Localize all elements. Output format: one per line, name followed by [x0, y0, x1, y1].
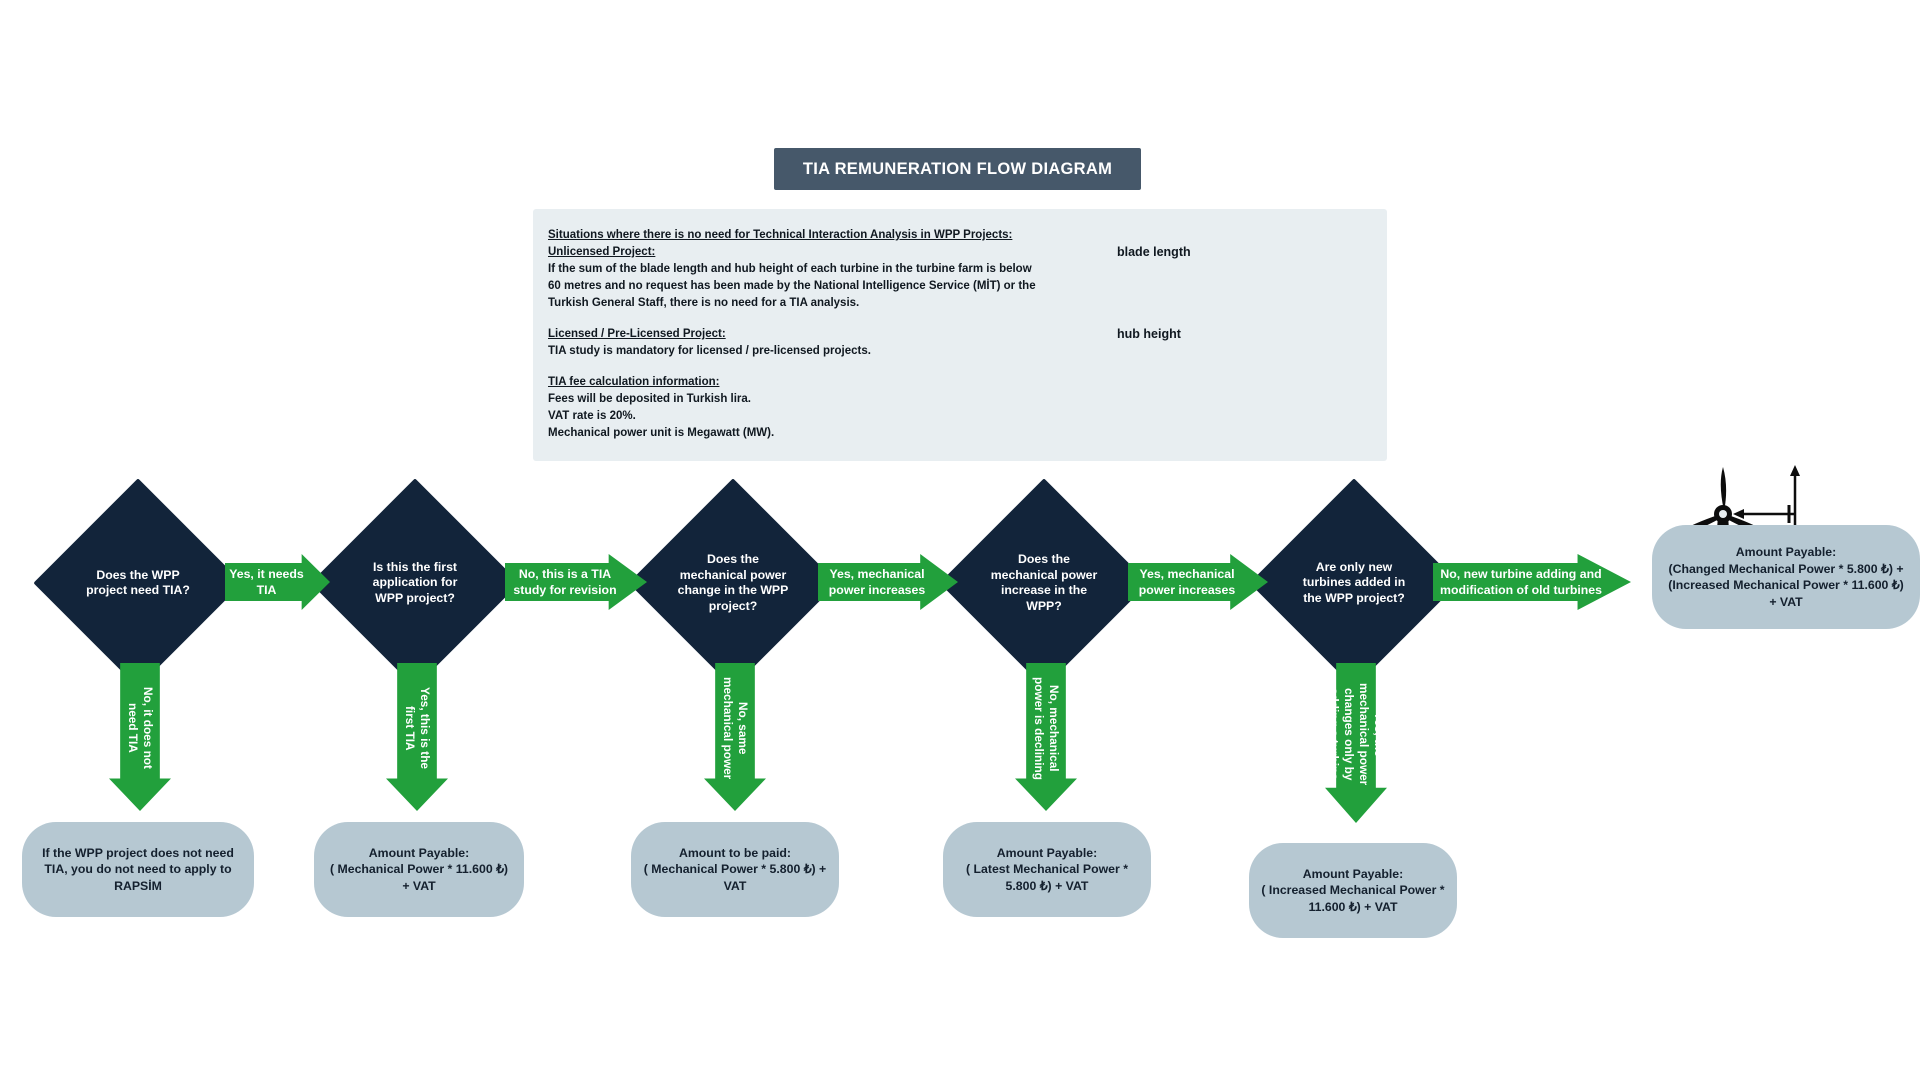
hub-height-label: hub height	[1117, 327, 1181, 341]
result-amount-increased-11600: Amount Payable: ( Increased Mechanical P…	[1249, 843, 1457, 938]
arrow-new-and-modified-turbines[interactable]: No, new turbine adding and modification …	[1433, 554, 1631, 610]
arrow-label: No, mechanical power is declining	[1031, 676, 1061, 780]
info-body-2-line-1: TIA study is mandatory for licensed / pr…	[548, 343, 1088, 360]
arrow-yes-needs-tia[interactable]: Yes, it needs TIA	[225, 554, 330, 610]
info-panel: Situations where there is no need for Te…	[533, 209, 1387, 461]
result-label: Amount Payable: ( Increased Mechanical P…	[1261, 866, 1445, 916]
arrow-is-first-tia[interactable]: Yes, this is the first TIA	[386, 663, 448, 811]
diagram-title-banner: TIA REMUNERATION FLOW DIAGRAM	[774, 148, 1141, 190]
result-amount-5800: Amount to be paid: ( Mechanical Power * …	[631, 822, 839, 917]
result-amount-combined: Amount Payable: (Changed Mechanical Powe…	[1652, 525, 1920, 629]
arrow-power-declining[interactable]: No, mechanical power is declining	[1015, 663, 1077, 811]
info-body-1-line-3: Turkish General Staff, there is no need …	[548, 295, 1088, 312]
info-body-3-line-2: VAT rate is 20%.	[548, 408, 1088, 425]
arrow-same-mechanical-power[interactable]: No, same mechanical power	[704, 663, 766, 811]
result-label: Amount Payable: ( Latest Mechanical Powe…	[955, 845, 1139, 895]
arrow-label: Yes, this is the first TIA	[402, 676, 432, 780]
decision-label: Are only new turbines added in the WPP p…	[1298, 560, 1410, 607]
info-body-3-line-1: Fees will be deposited in Turkish lira.	[548, 391, 1088, 408]
info-body-3-line-3: Mechanical power unit is Megawatt (MW).	[548, 425, 1088, 442]
decision-label: Is this the first application for WPP pr…	[359, 560, 471, 607]
info-panel-text: Situations where there is no need for Te…	[548, 227, 1088, 442]
decision-wpp-needs-tia[interactable]: Does the WPP project need TIA?	[64, 509, 212, 657]
info-body-1-line-2: 60 metres and no request has been made b…	[548, 278, 1088, 295]
decision-mech-power-change[interactable]: Does the mechanical power change in the …	[659, 509, 807, 657]
result-amount-latest-5800: Amount Payable: ( Latest Mechanical Powe…	[943, 822, 1151, 917]
info-heading-1: Situations where there is no need for Te…	[548, 227, 1088, 244]
info-body-1-line-1: If the sum of the blade length and hub h…	[548, 261, 1088, 278]
arrow-label: Yes, it needs TIA	[225, 566, 330, 598]
decision-mech-power-increase[interactable]: Does the mechanical power increase in th…	[970, 509, 1118, 657]
result-label: If the WPP project does not need TIA, yo…	[34, 845, 242, 895]
arrow-label: Yes, mechanical power increases	[818, 566, 958, 598]
arrow-label: No, this is a TIA study for revision	[505, 566, 647, 598]
arrow-revision-study[interactable]: No, this is a TIA study for revision	[505, 554, 647, 610]
result-label: Amount Payable: ( Mechanical Power * 11.…	[326, 845, 512, 895]
blade-length-label: blade length	[1117, 245, 1191, 259]
arrow-power-increases-1[interactable]: Yes, mechanical power increases	[818, 554, 958, 610]
decision-first-application[interactable]: Is this the first application for WPP pr…	[341, 509, 489, 657]
info-subheading-unlicensed: Unlicensed Project:	[548, 244, 1088, 261]
result-no-rapsim-application: If the WPP project does not need TIA, yo…	[22, 822, 254, 917]
info-spacer-2	[548, 360, 1088, 374]
arrow-label: No, it does not need TIA	[125, 676, 155, 780]
result-label: Amount to be paid: ( Mechanical Power * …	[643, 845, 827, 895]
info-subheading-fee: TIA fee calculation information:	[548, 374, 1088, 391]
arrow-label: Yes, the mechanical power changes only b…	[1326, 682, 1386, 786]
result-label: Amount Payable: (Changed Mechanical Powe…	[1664, 544, 1908, 610]
info-subheading-licensed: Licensed / Pre-Licensed Project:	[548, 326, 1088, 343]
arrow-does-not-need-tia[interactable]: No, it does not need TIA	[109, 663, 171, 811]
decision-only-new-turbines[interactable]: Are only new turbines added in the WPP p…	[1280, 509, 1428, 657]
arrow-label: No, new turbine adding and modification …	[1433, 566, 1631, 598]
decision-label: Does the mechanical power change in the …	[677, 552, 789, 614]
arrow-power-changes-by-adding-turbine[interactable]: Yes, the mechanical power changes only b…	[1325, 663, 1387, 823]
arrow-label: Yes, mechanical power increases	[1128, 566, 1268, 598]
decision-label: Does the mechanical power increase in th…	[988, 552, 1100, 614]
arrow-power-increases-2[interactable]: Yes, mechanical power increases	[1128, 554, 1268, 610]
result-amount-11600: Amount Payable: ( Mechanical Power * 11.…	[314, 822, 524, 917]
page-title: TIA REMUNERATION FLOW DIAGRAM	[803, 160, 1112, 179]
arrow-label: No, same mechanical power	[720, 676, 750, 780]
decision-label: Does the WPP project need TIA?	[82, 568, 194, 599]
info-spacer-1	[548, 312, 1088, 326]
